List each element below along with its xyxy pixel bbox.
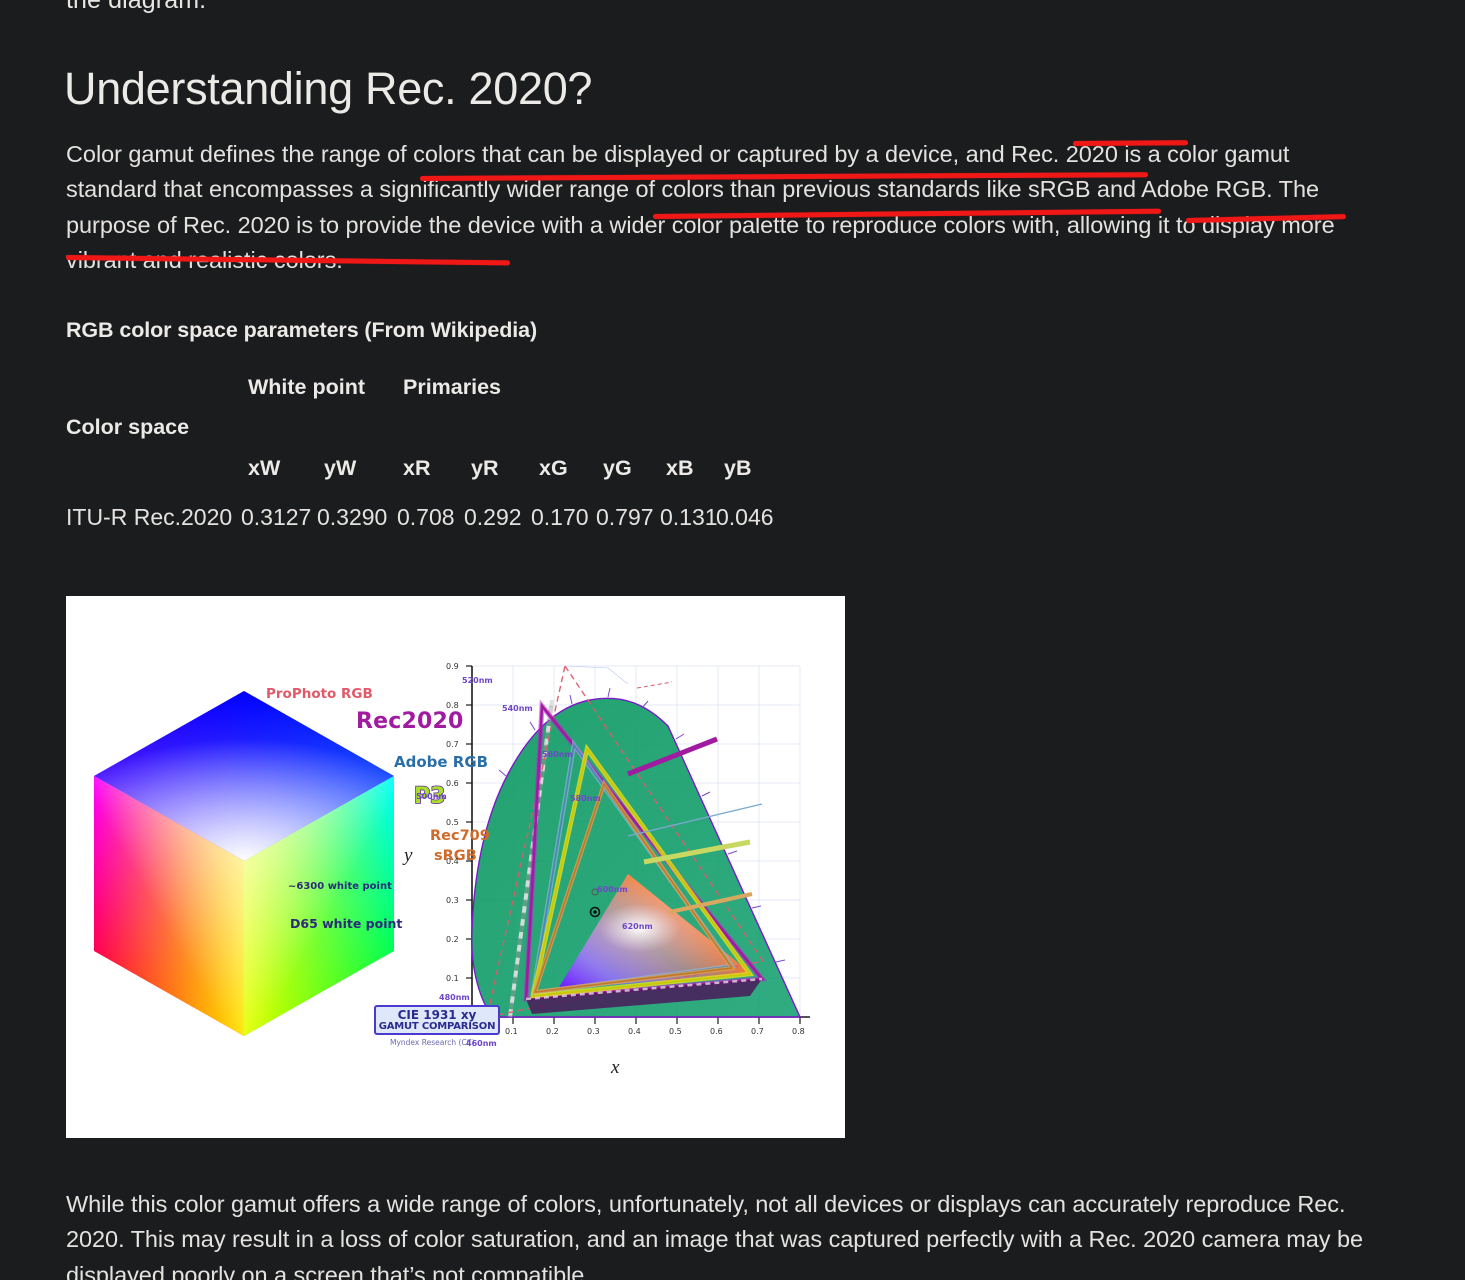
outro-paragraph: While this color gamut offers a wide ran… — [66, 1187, 1366, 1280]
y-tick-0.1: 0.1 — [446, 974, 459, 983]
wavelength-label-480nm: 480nm — [439, 993, 470, 1002]
column-header-yG: yG — [603, 456, 632, 481]
column-header-yW: yW — [324, 456, 356, 481]
y-tick-0.8: 0.8 — [446, 701, 459, 710]
column-header-xG: xG — [539, 456, 568, 481]
article-page: the diagram. Understanding Rec. 2020? Co… — [0, 0, 1465, 1280]
y-tick-0.6: 0.6 — [446, 779, 459, 788]
y-tick-0.4: 0.4 — [446, 857, 459, 866]
cell-yB: 0.046 — [716, 504, 774, 531]
cell-xR: 0.708 — [397, 504, 455, 531]
x-tick-0.1: 0.1 — [505, 1027, 518, 1036]
wavelength-label-580nm: 580nm — [570, 794, 601, 803]
y-tick-0.3: 0.3 — [446, 896, 459, 905]
legend-title: CIE 1931 xy — [376, 1009, 498, 1022]
cell-yW: 0.3290 — [317, 504, 387, 531]
wavelength-label-560nm: 560nm — [542, 750, 573, 759]
rgb-color-cube — [84, 681, 404, 1051]
wavelength-label-520nm: 520nm — [462, 676, 493, 685]
page-title: Understanding Rec. 2020? — [64, 63, 592, 115]
wavelength-label-620nm: 620nm — [622, 922, 653, 931]
section-subheading: RGB color space parameters (From Wikiped… — [66, 318, 537, 343]
gamut-figure-card: ProPhoto RGB Rec2020 Adobe RGB P3 Rec709… — [66, 596, 845, 1138]
column-header-xB: xB — [666, 456, 693, 481]
row-header-label: Color space — [66, 415, 189, 440]
x-tick-0.5: 0.5 — [669, 1027, 682, 1036]
wavelength-label-540nm: 540nm — [502, 704, 533, 713]
legend-subtitle: GAMUT COMPARISON — [376, 1022, 498, 1033]
x-axis-label: x — [611, 1057, 619, 1079]
column-header-yR: yR — [471, 456, 498, 481]
cell-yR: 0.292 — [464, 504, 522, 531]
y-tick-0.9: 0.9 — [446, 662, 459, 671]
wavelength-label-600nm: 600nm — [597, 885, 628, 894]
label-6300-white-point: ~6300 white point — [288, 881, 392, 892]
label-d65-white-point: D65 white point — [290, 916, 402, 931]
cell-xG: 0.170 — [531, 504, 589, 531]
legend-credit: Myndex Research (CC) — [390, 1038, 475, 1047]
cell-color-space-name: ITU-R Rec.2020 — [66, 504, 232, 531]
x-tick-0.2: 0.2 — [546, 1027, 559, 1036]
x-tick-0.7: 0.7 — [751, 1027, 764, 1036]
y-axis-label: y — [404, 845, 412, 867]
x-tick-0.8: 0.8 — [792, 1027, 805, 1036]
label-adobe-rgb: Adobe RGB — [394, 753, 488, 771]
label-rec709: Rec709 — [430, 828, 490, 844]
y-tick-0.2: 0.2 — [446, 935, 459, 944]
cutoff-text: the diagram. — [66, 0, 206, 15]
x-tick-0.6: 0.6 — [710, 1027, 723, 1036]
column-header-xW: xW — [248, 456, 280, 481]
group-header-primaries: Primaries — [403, 375, 501, 400]
label-prophoto-rgb: ProPhoto RGB — [266, 686, 373, 702]
y-tick-0.7: 0.7 — [446, 740, 459, 749]
x-tick-0.4: 0.4 — [628, 1027, 641, 1036]
red-underline-0 — [1073, 140, 1188, 145]
cell-xW: 0.3127 — [241, 504, 311, 531]
column-header-yB: yB — [724, 456, 751, 481]
column-header-xR: xR — [403, 456, 430, 481]
group-header-white-point: White point — [248, 375, 365, 400]
x-tick-0.3: 0.3 — [587, 1027, 600, 1036]
spectral-locus-region — [472, 698, 800, 1017]
cell-xB: 0.131 — [660, 504, 718, 531]
cell-yG: 0.797 — [596, 504, 654, 531]
wavelength-label-500nm: 500nm — [416, 792, 447, 801]
label-rec2020: Rec2020 — [356, 709, 464, 734]
y-tick-0.5: 0.5 — [446, 818, 459, 827]
chart-legend-box: CIE 1931 xy GAMUT COMPARISON — [374, 1005, 500, 1035]
